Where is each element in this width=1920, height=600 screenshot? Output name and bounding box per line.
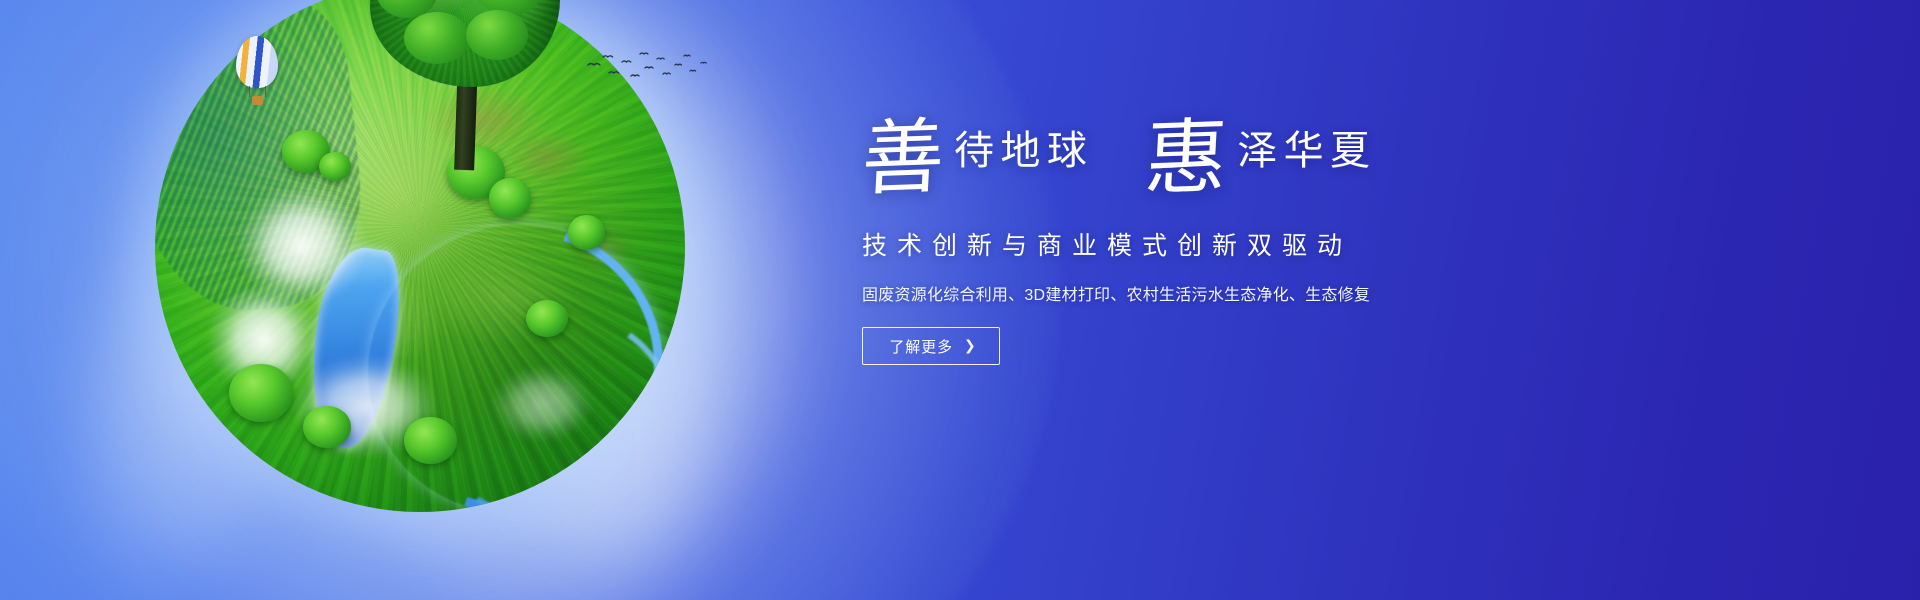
learn-more-button[interactable]: 了解更多 ❯ bbox=[862, 327, 1000, 365]
cloud-3 bbox=[282, 353, 462, 480]
subheadline: 技术创新与商业模式创新双驱动 bbox=[862, 226, 1622, 262]
lake bbox=[299, 242, 409, 453]
chevron-right-icon: ❯ bbox=[964, 338, 977, 352]
balloon-basket bbox=[252, 96, 263, 105]
hot-air-balloon-icon bbox=[236, 36, 278, 110]
headline-part1-large: 善 bbox=[860, 117, 947, 202]
tree-clump-7 bbox=[404, 417, 457, 465]
river-branch bbox=[417, 295, 685, 512]
tree-clump-8 bbox=[526, 300, 568, 337]
learn-more-label: 了解更多 bbox=[889, 336, 953, 357]
mountain-ridge bbox=[155, 0, 372, 321]
cloud-5 bbox=[484, 364, 611, 459]
cloud-wisp-left bbox=[0, 78, 422, 600]
cloud-2 bbox=[185, 261, 359, 435]
tree-icon bbox=[370, 0, 560, 162]
tree-lump-5 bbox=[466, 10, 528, 60]
service-caption: 固废资源化综合利用、3D建材打印、农村生活污水生态净化、生态修复 bbox=[862, 281, 1622, 305]
page-title: 善待地球惠泽华夏 bbox=[862, 118, 1622, 210]
tree-clump-6 bbox=[303, 406, 351, 448]
tree-lump-1 bbox=[376, 0, 438, 18]
tree-clump-1 bbox=[282, 130, 330, 172]
lake-shore bbox=[284, 229, 424, 465]
tree-clump-5 bbox=[229, 364, 293, 422]
hero-copy: 善待地球惠泽华夏 技术创新与商业模式创新双驱动 固废资源化综合利用、3D建材打印… bbox=[862, 118, 1622, 365]
tree-clump-3 bbox=[447, 146, 505, 199]
tree-leaf-texture bbox=[370, 0, 560, 87]
cloud-wisp-mid bbox=[278, 0, 903, 600]
hero-banner: 善待地球惠泽华夏 技术创新与商业模式创新双驱动 固废资源化综合利用、3D建材打印… bbox=[0, 0, 1920, 600]
headline-part2-large: 惠 bbox=[1143, 117, 1230, 202]
headline-part1-small: 待地球 bbox=[954, 131, 1093, 171]
balloon-ropes bbox=[249, 86, 266, 97]
cloud-1 bbox=[229, 183, 388, 331]
cloud-wisp-outer bbox=[40, 0, 880, 600]
birds-icon bbox=[585, 48, 715, 88]
tree-lump-4 bbox=[404, 12, 470, 64]
river bbox=[319, 175, 685, 512]
tree-trunk bbox=[454, 62, 478, 171]
tree-clump-9 bbox=[568, 215, 605, 249]
tree-clump-4 bbox=[489, 178, 531, 218]
tree-lump-3 bbox=[474, 0, 544, 16]
cloud-4 bbox=[404, 24, 521, 104]
balloon-envelope bbox=[236, 36, 278, 88]
tree-canopy bbox=[370, 0, 560, 87]
tree-clump-2 bbox=[319, 152, 351, 181]
headline-part2-small: 泽华夏 bbox=[1237, 131, 1376, 171]
